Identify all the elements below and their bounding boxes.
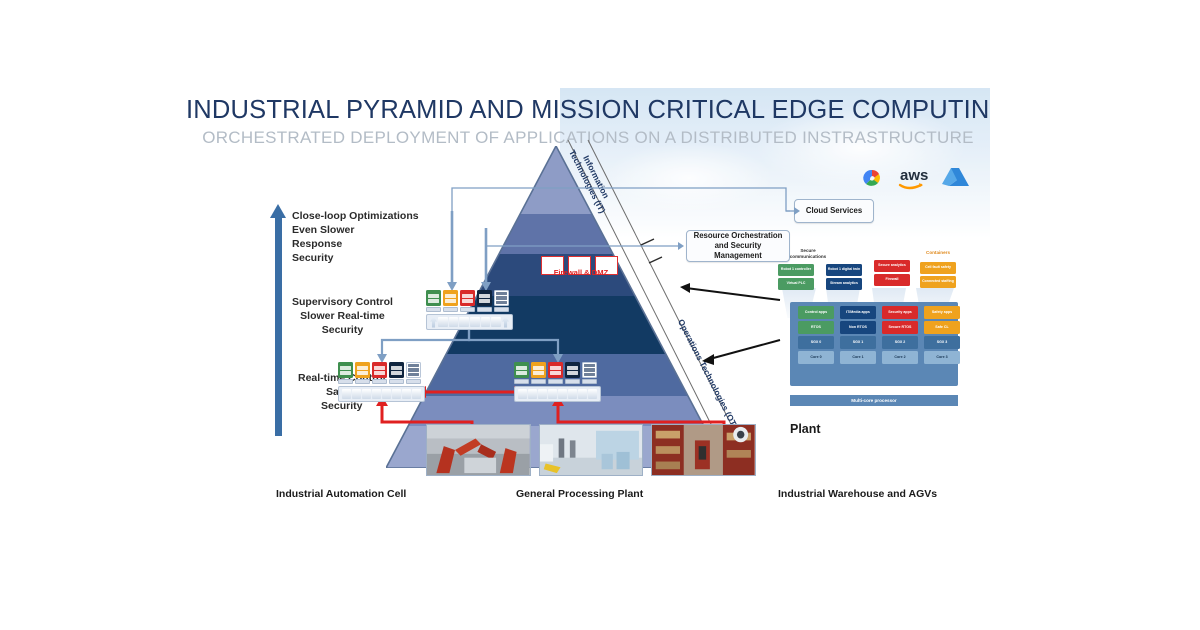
diagram-panel: INDUSTRIAL PYRAMID AND MISSION CRITICAL … (186, 88, 990, 533)
containers-label: Containers (914, 250, 962, 255)
plant-photo-strip (426, 424, 756, 476)
photo-warehouse (651, 424, 756, 476)
app-tile-generic[interactable] (406, 362, 421, 378)
core-0-column: Control apps RTOS SGX 0 Core 0 (798, 306, 834, 366)
callout-core-3: Cell fault safety Connected staffing (920, 262, 956, 290)
firewall-dmz-label: Firewall & DMZ (535, 268, 627, 277)
control-edge-node-left (338, 362, 425, 402)
app-tile-it[interactable] (389, 362, 404, 378)
edge-hardware-bar (338, 386, 425, 402)
app-tile-it[interactable] (565, 362, 580, 378)
caption-general-processing-plant: General Processing Plant (516, 488, 643, 500)
app-tile-control[interactable] (426, 290, 441, 306)
multicore-processor-diagram: Robot 1 controller Virtual PLC Robot 1 d… (780, 266, 960, 406)
page-subtitle: ORCHESTRATED DEPLOYMENT OF APPLICATIONS … (186, 128, 990, 148)
callout-core-1: Robot 1 digital twin Stream analytics (826, 264, 862, 292)
core-3-column: Safety apps Safe CL SGX 3 Core 3 (924, 306, 960, 366)
app-caption (460, 307, 475, 312)
azure-logo (942, 168, 969, 186)
app-tile-safety[interactable] (531, 362, 546, 378)
app-caption-row (426, 307, 513, 312)
app-tile-generic[interactable] (494, 290, 509, 306)
svg-text:aws: aws (900, 167, 928, 184)
processor-footer-label: Multi-core processor (790, 395, 958, 406)
callout-core-0: Robot 1 controller Virtual PLC (778, 264, 814, 292)
uplink-icon (502, 317, 509, 328)
axis-label-middle: Supervisory Control Slower Real-time Sec… (292, 296, 393, 338)
app-caption (494, 307, 509, 312)
app-caption (426, 307, 441, 312)
supervisory-edge-node (426, 290, 513, 330)
app-tile-security[interactable] (460, 290, 475, 306)
core-2-column: Security apps Secure RTOS SGX 2 Core 2 (882, 306, 918, 366)
aws-logo: aws (900, 167, 928, 188)
app-tile-row (426, 290, 513, 306)
plant-label: Plant (790, 422, 821, 436)
page-title: INDUSTRIAL PYRAMID AND MISSION CRITICAL … (186, 96, 990, 125)
app-caption (477, 307, 492, 312)
app-tile-generic[interactable] (582, 362, 597, 378)
cloud-services-box[interactable]: Cloud Services (794, 199, 874, 223)
control-edge-node-right (514, 362, 601, 402)
callout-core-2: Secure analytics Firewall (874, 260, 910, 288)
photo-processing-plant (539, 424, 644, 476)
app-caption (443, 307, 458, 312)
cloud-provider-logos: aws (854, 160, 984, 194)
google-cloud-logo (863, 170, 880, 186)
app-tile-security[interactable] (548, 362, 563, 378)
uplink-icon (430, 317, 437, 328)
app-tile-safety[interactable] (355, 362, 370, 378)
app-tile-it[interactable] (477, 290, 492, 306)
edge-hardware-bar (426, 314, 513, 330)
app-tile-security[interactable] (372, 362, 387, 378)
caption-industrial-automation-cell: Industrial Automation Cell (276, 488, 406, 500)
maturity-axis-arrow (270, 204, 286, 436)
app-tile-control[interactable] (338, 362, 353, 378)
axis-shaft (275, 216, 282, 436)
edge-hardware-bar (514, 386, 601, 402)
app-tile-safety[interactable] (443, 290, 458, 306)
photo-robotic-cell (426, 424, 531, 476)
secure-communications-label: Secure communications (782, 248, 834, 259)
core-1-column: IT/Media apps Non RTOS SGX 1 Core 1 (840, 306, 876, 366)
resource-orchestration-box[interactable]: Resource Orchestration and Security Mana… (686, 230, 790, 262)
app-tile-control[interactable] (514, 362, 529, 378)
caption-industrial-warehouse: Industrial Warehouse and AGVs (778, 488, 937, 500)
